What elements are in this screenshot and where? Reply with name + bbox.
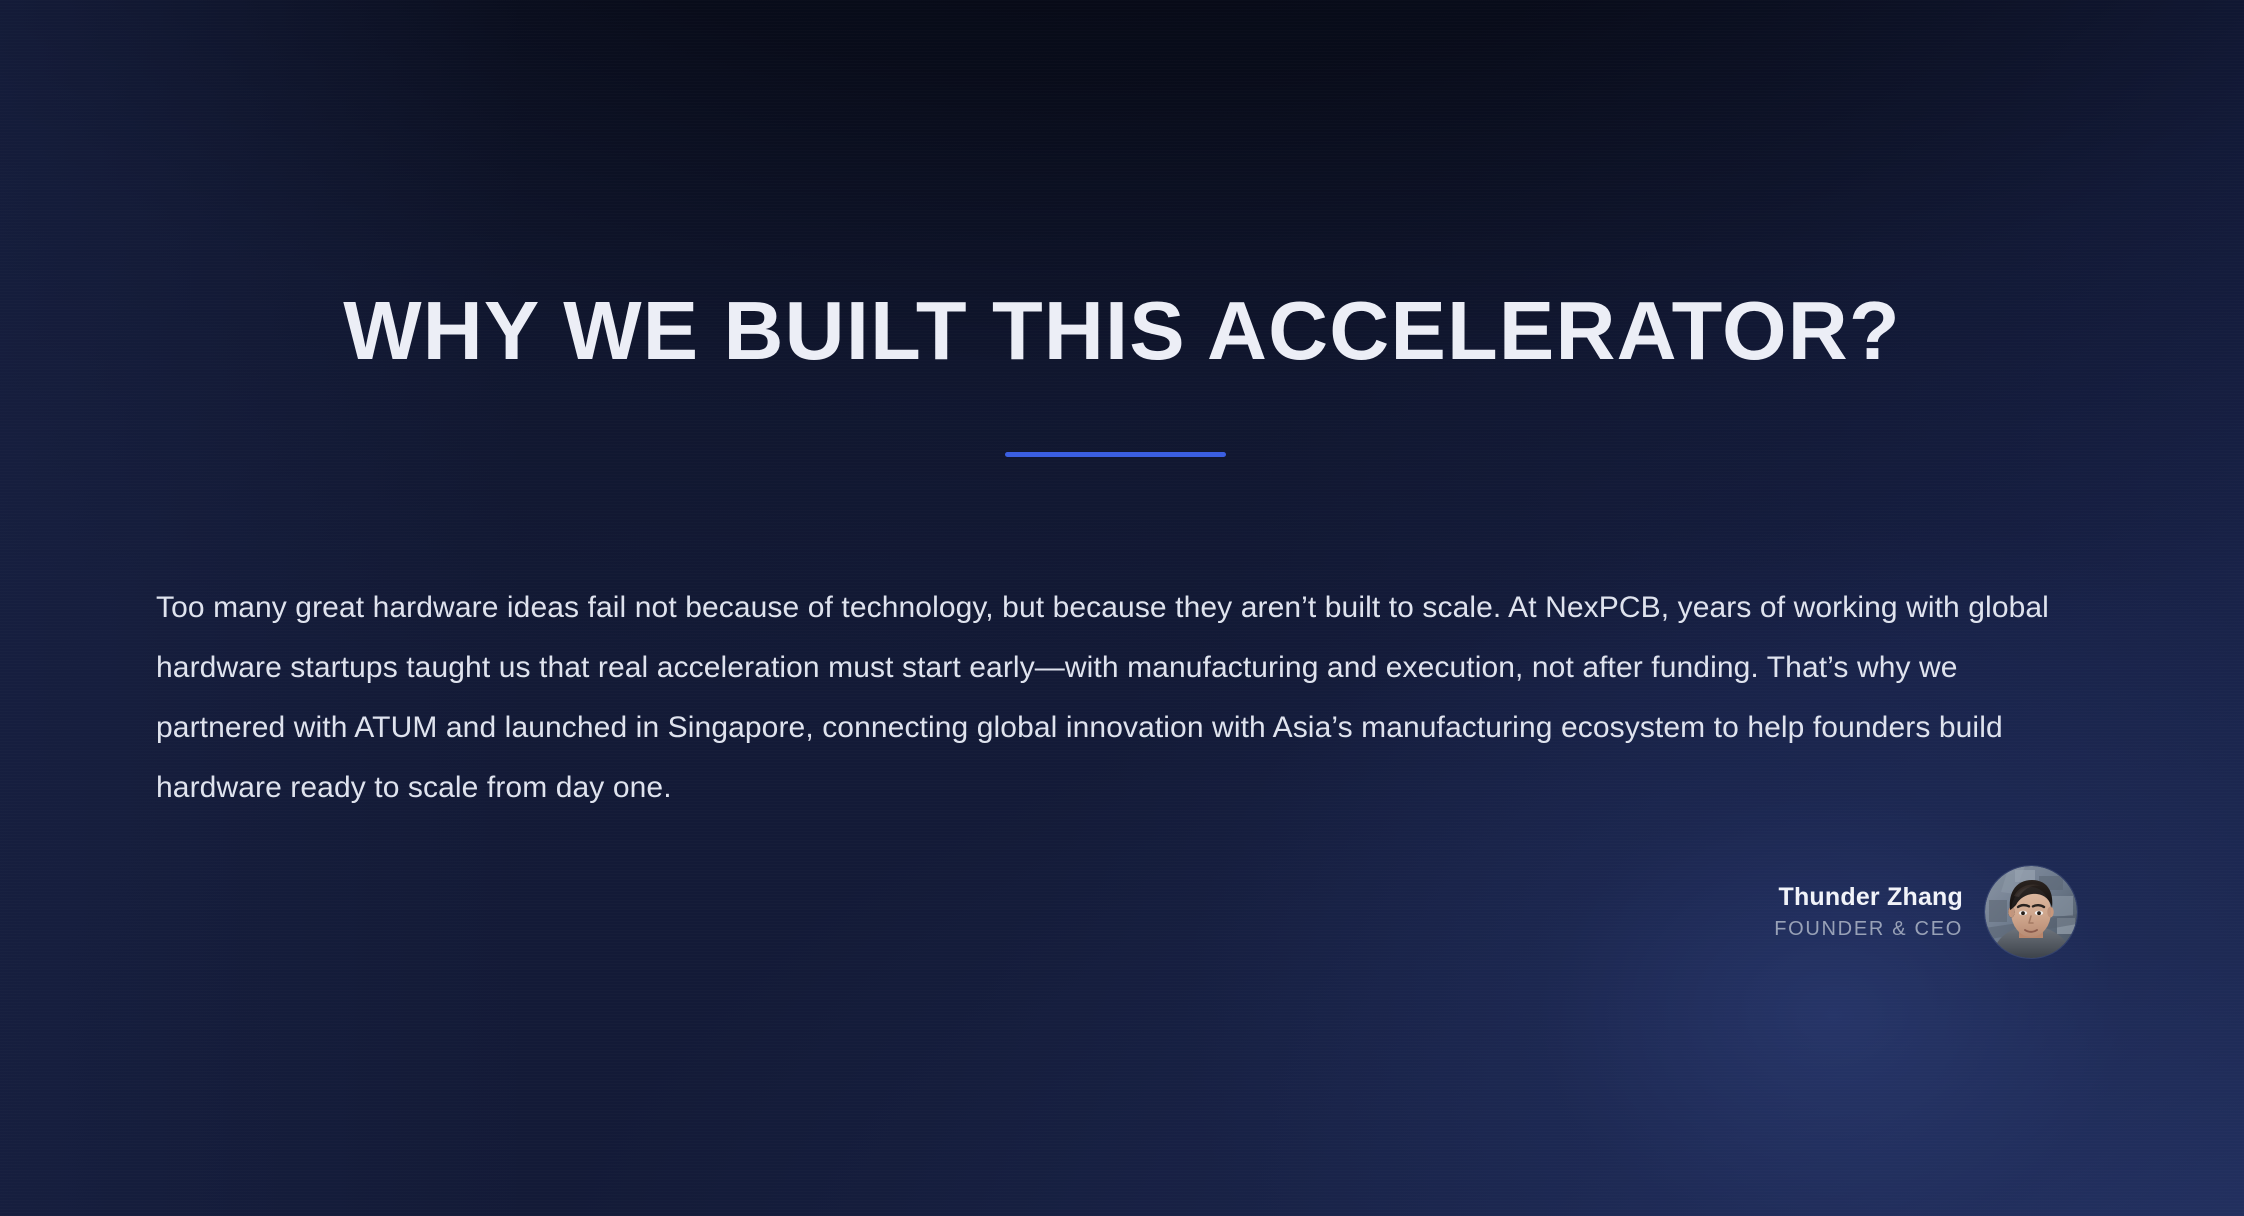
author-role: FOUNDER & CEO	[1774, 916, 1963, 942]
page-title: WHY WE BUILT THIS ACCELERATOR?	[0, 287, 2244, 374]
attribution-text: Thunder Zhang FOUNDER & CEO	[1774, 882, 1963, 942]
author-name: Thunder Zhang	[1778, 882, 1963, 913]
attribution-block: Thunder Zhang FOUNDER & CEO	[1774, 866, 2077, 958]
slide-root: WHY WE BUILT THIS ACCELERATOR? Too many …	[0, 0, 2244, 1216]
title-divider	[1005, 452, 1226, 457]
slide-content: WHY WE BUILT THIS ACCELERATOR? Too many …	[0, 0, 2244, 1216]
avatar	[1985, 866, 2077, 958]
body-paragraph: Too many great hardware ideas fail not b…	[156, 578, 2091, 818]
